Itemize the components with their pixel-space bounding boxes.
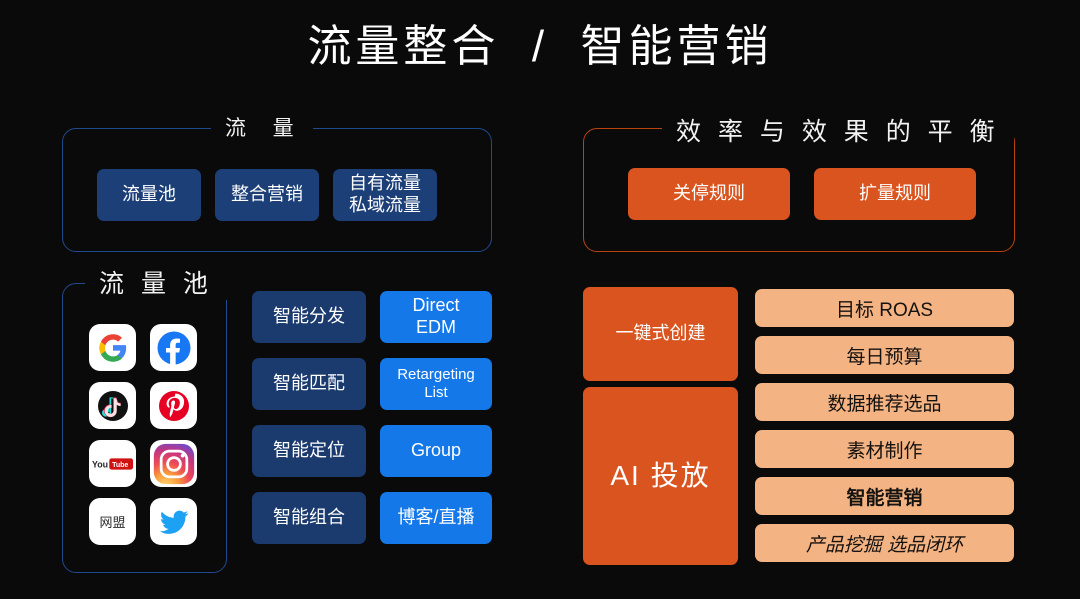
retargeting-line1: Retargeting	[397, 366, 475, 384]
facebook-logo-tile[interactable]	[150, 324, 197, 371]
channel-column: Direct EDM Retargeting List Group 博客/直播	[380, 291, 492, 544]
traffic-pool-legend: 流 量 池	[85, 264, 227, 300]
facebook-icon	[156, 330, 192, 366]
feature-item-product-discovery-loop[interactable]: 产品挖掘 选品闭环	[755, 524, 1014, 562]
page-title: 流量整合 / 智能营销	[0, 18, 1080, 75]
smart-button-targeting[interactable]: 智能定位	[252, 425, 366, 477]
youtube-logo-tile[interactable]: You Tube	[89, 440, 136, 487]
slide-canvas: 流量整合 / 智能营销 流 量 流量池 整合营销 自有流量 私域流量 效 率 与…	[0, 0, 1080, 599]
balance-button-stop-rule[interactable]: 关停规则	[628, 168, 790, 220]
instagram-logo-tile[interactable]	[150, 440, 197, 487]
wangmeng-icon: 网盟	[99, 512, 125, 531]
smart-button-matching[interactable]: 智能匹配	[252, 358, 366, 410]
balance-button-row: 关停规则 扩量规则	[628, 168, 976, 220]
owned-traffic-line2: 私域流量	[349, 195, 421, 217]
svg-text:You: You	[92, 459, 108, 469]
svg-text:Tube: Tube	[112, 461, 128, 468]
direct-edm-line2: EDM	[412, 317, 459, 339]
channel-button-blog-live[interactable]: 博客/直播	[380, 492, 492, 544]
youtube-icon: You Tube	[92, 455, 134, 473]
traffic-button-pool[interactable]: 流量池	[97, 169, 201, 221]
feature-item-data-recommended-selection[interactable]: 数据推荐选品	[755, 383, 1014, 421]
traffic-panel: 流 量 流量池 整合营销 自有流量 私域流量	[62, 128, 492, 252]
traffic-pool-panel: 流 量 池	[62, 283, 227, 573]
direct-edm-line1: Direct	[412, 295, 459, 317]
traffic-button-owned-traffic[interactable]: 自有流量 私域流量	[333, 169, 437, 221]
feature-list: 目标 ROAS 每日预算 数据推荐选品 素材制作 智能营销 产品挖掘 选品闭环	[755, 289, 1014, 562]
tiktok-icon	[95, 388, 131, 424]
feature-item-daily-budget[interactable]: 每日预算	[755, 336, 1014, 374]
smart-capability-column: 智能分发 智能匹配 智能定位 智能组合	[252, 291, 366, 544]
balance-button-scale-rule[interactable]: 扩量规则	[814, 168, 976, 220]
pinterest-icon	[156, 388, 192, 424]
channel-button-group[interactable]: Group	[380, 425, 492, 477]
traffic-button-integrated-marketing[interactable]: 整合营销	[215, 169, 319, 221]
platform-logo-grid: You Tube	[89, 324, 197, 545]
traffic-panel-legend: 流 量	[211, 112, 313, 142]
ai-delivery-block[interactable]: AI 投放	[583, 387, 738, 565]
google-icon	[98, 333, 128, 363]
owned-traffic-line1: 自有流量	[349, 173, 421, 195]
traffic-button-row: 流量池 整合营销 自有流量 私域流量	[97, 169, 437, 221]
channel-button-direct-edm[interactable]: Direct EDM	[380, 291, 492, 343]
twitter-icon	[157, 505, 191, 539]
retargeting-line2: List	[397, 384, 475, 402]
smart-button-distribution[interactable]: 智能分发	[252, 291, 366, 343]
channel-button-retargeting-list[interactable]: Retargeting List	[380, 358, 492, 410]
wangmeng-logo-tile[interactable]: 网盟	[89, 498, 136, 545]
balance-panel: 效 率 与 效 果 的 平 衡 关停规则 扩量规则	[583, 128, 1015, 252]
feature-item-target-roas[interactable]: 目标 ROAS	[755, 289, 1014, 327]
google-logo-tile[interactable]	[89, 324, 136, 371]
instagram-icon	[152, 442, 196, 486]
feature-item-creative-production[interactable]: 素材制作	[755, 430, 1014, 468]
one-click-create-block[interactable]: 一键式创建	[583, 287, 738, 381]
smart-button-combination[interactable]: 智能组合	[252, 492, 366, 544]
balance-panel-legend: 效 率 与 效 果 的 平 衡	[662, 112, 1014, 148]
feature-item-smart-marketing[interactable]: 智能营销	[755, 477, 1014, 515]
pinterest-logo-tile[interactable]	[150, 382, 197, 429]
twitter-logo-tile[interactable]	[150, 498, 197, 545]
tiktok-logo-tile[interactable]	[89, 382, 136, 429]
